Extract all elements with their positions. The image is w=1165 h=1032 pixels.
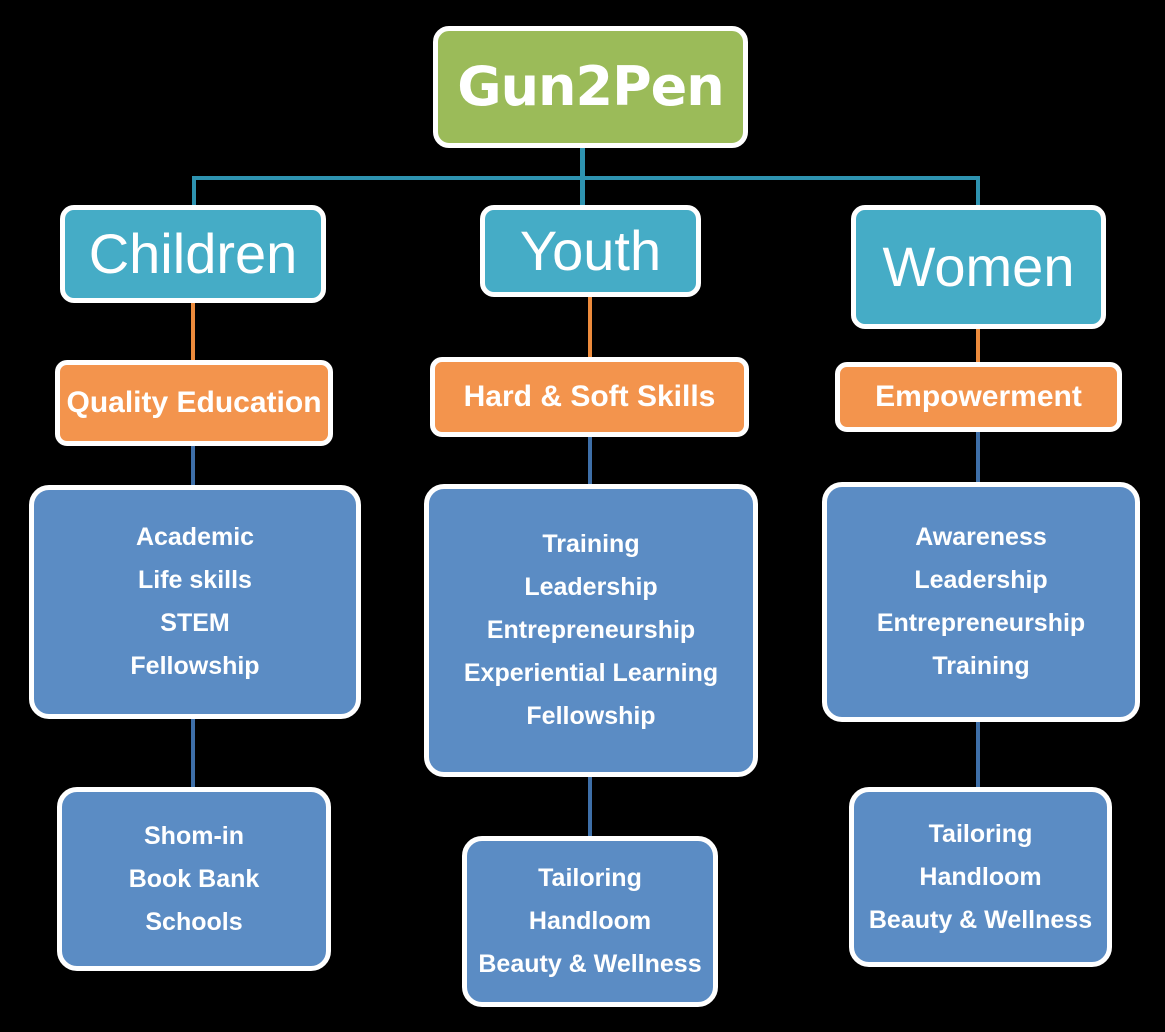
sub-detail-node-children[interactable]: Shom-in Book Bank Schools (57, 787, 331, 971)
connector-root-to-bus (580, 143, 585, 179)
list-item: Leadership (524, 566, 657, 609)
theme-node-empowerment-label: Empowerment (875, 378, 1082, 416)
connector-children-to-quality-education (191, 298, 195, 362)
group-node-children-label: Children (89, 226, 298, 282)
list-item: Leadership (914, 559, 1047, 602)
group-node-youth-label: Youth (520, 223, 661, 279)
connector-hard-soft-skills-to-detail (588, 434, 592, 486)
theme-node-quality-education[interactable]: Quality Education (55, 360, 333, 446)
connector-bus-horizontal (192, 176, 980, 180)
connector-quality-education-to-detail (191, 443, 195, 488)
list-item: Awareness (915, 516, 1047, 559)
list-item: Experiential Learning (464, 652, 718, 695)
list-item: Tailoring (929, 813, 1033, 856)
group-node-youth[interactable]: Youth (480, 205, 701, 297)
theme-node-hard-soft-skills-label: Hard & Soft Skills (464, 378, 716, 416)
group-node-children[interactable]: Children (60, 205, 326, 303)
list-item: Entrepreneurship (877, 602, 1085, 645)
list-item: Academic (136, 516, 254, 559)
sub-detail-node-women[interactable]: Tailoring Handloom Beauty & Wellness (849, 787, 1112, 967)
detail-node-children-list: Academic Life skills STEM Fellowship (34, 516, 356, 688)
connector-bus-to-youth (580, 176, 585, 208)
group-node-women[interactable]: Women (851, 205, 1106, 329)
theme-node-empowerment[interactable]: Empowerment (835, 362, 1122, 432)
org-diagram-canvas: Gun2Pen Children Quality Education Acade… (0, 0, 1165, 1032)
theme-node-quality-education-label: Quality Education (66, 384, 321, 422)
sub-detail-node-youth-list: Tailoring Handloom Beauty & Wellness (467, 857, 713, 986)
list-item: Fellowship (526, 695, 655, 738)
detail-node-women[interactable]: Awareness Leadership Entrepreneurship Tr… (822, 482, 1140, 722)
list-item: Beauty & Wellness (869, 899, 1092, 942)
list-item: Shom-in (144, 815, 244, 858)
sub-detail-node-children-list: Shom-in Book Bank Schools (62, 815, 326, 944)
root-node-gun2pen[interactable]: Gun2Pen (433, 26, 748, 148)
list-item: Fellowship (130, 645, 259, 688)
list-item: Handloom (919, 856, 1041, 899)
list-item: Handloom (529, 900, 651, 943)
connector-women-to-empowerment (976, 325, 980, 363)
detail-node-children[interactable]: Academic Life skills STEM Fellowship (29, 485, 361, 719)
list-item: Tailoring (538, 857, 642, 900)
detail-node-women-list: Awareness Leadership Entrepreneurship Tr… (827, 516, 1135, 688)
list-item: Book Bank (129, 858, 260, 901)
detail-node-youth[interactable]: Training Leadership Entrepreneurship Exp… (424, 484, 758, 777)
list-item: Beauty & Wellness (478, 943, 701, 986)
connector-empowerment-to-detail (976, 430, 980, 482)
connector-bus-to-children (192, 176, 196, 208)
detail-node-youth-list: Training Leadership Entrepreneurship Exp… (429, 523, 753, 738)
list-item: Schools (145, 901, 242, 944)
list-item: Entrepreneurship (487, 609, 695, 652)
list-item: Life skills (138, 559, 252, 602)
list-item: STEM (160, 602, 229, 645)
connector-women-detail-to-sub (976, 722, 980, 788)
group-node-women-label: Women (883, 239, 1075, 295)
sub-detail-node-youth[interactable]: Tailoring Handloom Beauty & Wellness (462, 836, 718, 1007)
list-item: Training (932, 645, 1029, 688)
connector-children-detail-to-sub (191, 716, 195, 790)
connector-youth-to-hard-soft-skills (588, 293, 592, 357)
sub-detail-node-women-list: Tailoring Handloom Beauty & Wellness (854, 813, 1107, 942)
list-item: Training (542, 523, 639, 566)
connector-youth-detail-to-sub (588, 775, 592, 838)
theme-node-hard-soft-skills[interactable]: Hard & Soft Skills (430, 357, 749, 437)
root-node-label: Gun2Pen (457, 60, 723, 114)
connector-bus-to-women (976, 176, 980, 208)
